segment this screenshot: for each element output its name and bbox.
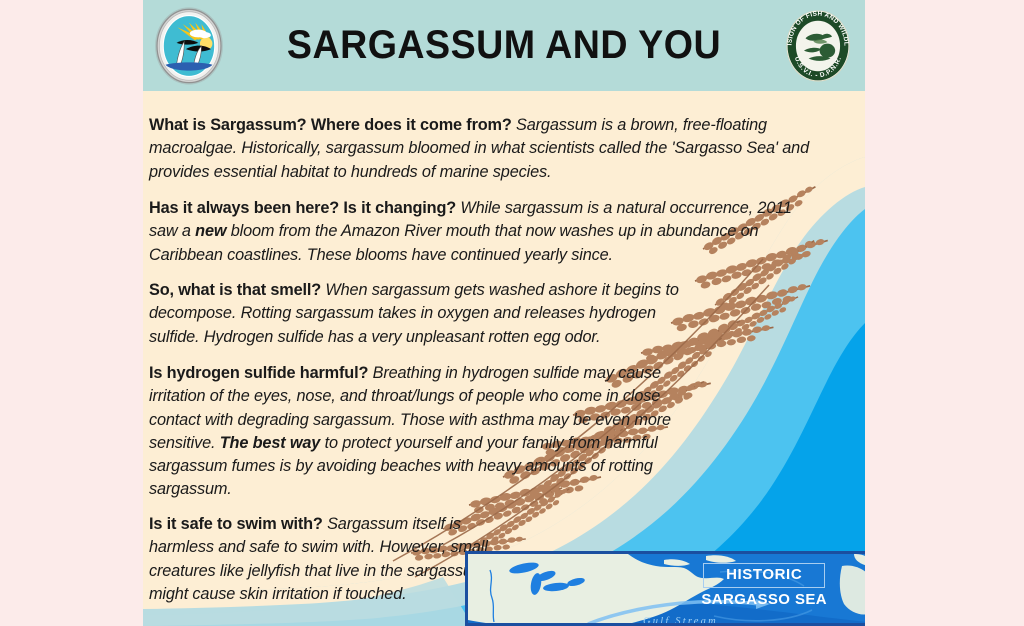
- qa-question: What is Sargassum? Where does it come fr…: [149, 116, 512, 134]
- qa-block-what-is-sargassum: What is Sargassum? Where does it come fr…: [149, 114, 849, 183]
- division-of-fish-and-wildlife-seal-icon: DIVISION OF FISH AND WILDLIFE U.S.V.I. -…: [773, 7, 863, 85]
- poster-panel: SARGASSUM AND YOU DIVISION OF FISH AND W…: [143, 0, 865, 626]
- qa-question: Has it always been here? Is it changing?: [149, 199, 456, 217]
- poster-header: SARGASSUM AND YOU DIVISION OF FISH AND W…: [143, 0, 865, 91]
- qa-answer-emphasis: new: [195, 222, 226, 240]
- page-title: SARGASSUM AND YOU: [165, 0, 844, 91]
- qa-block-is-it-safe-to-swim-with: Is it safe to swim with? Sargassum itsel…: [149, 513, 499, 606]
- qa-question: So, what is that smell?: [149, 281, 321, 299]
- qa-question: Is it safe to swim with?: [149, 515, 323, 533]
- qa-answer-emphasis: The best way: [220, 434, 320, 452]
- gulf-stream-label: Gulf Stream: [643, 616, 718, 626]
- historic-label: HISTORIC: [726, 566, 802, 583]
- sargasso-sea-label: SARGASSO SEA: [701, 591, 827, 608]
- qa-answer: bloom from the Amazon River mouth that n…: [149, 222, 758, 263]
- qa-question: Is hydrogen sulfide harmful?: [149, 364, 368, 382]
- sargasso-sea-label-group: HISTORIC SARGASSO SEA: [701, 563, 827, 608]
- qa-block-what-is-that-smell: So, what is that smell? When sargassum g…: [149, 279, 679, 348]
- historic-sargasso-sea-map: Gulf Stream HISTORIC SARGASSO SEA: [465, 551, 865, 626]
- qa-block-has-it-always-been-here: Has it always been here? Is it changing?…: [149, 197, 804, 266]
- poster-body: What is Sargassum? Where does it come fr…: [143, 91, 865, 626]
- qa-block-is-hydrogen-sulfide-harmful: Is hydrogen sulfide harmful? Breathing i…: [149, 362, 694, 501]
- historic-label-box: HISTORIC: [703, 563, 825, 588]
